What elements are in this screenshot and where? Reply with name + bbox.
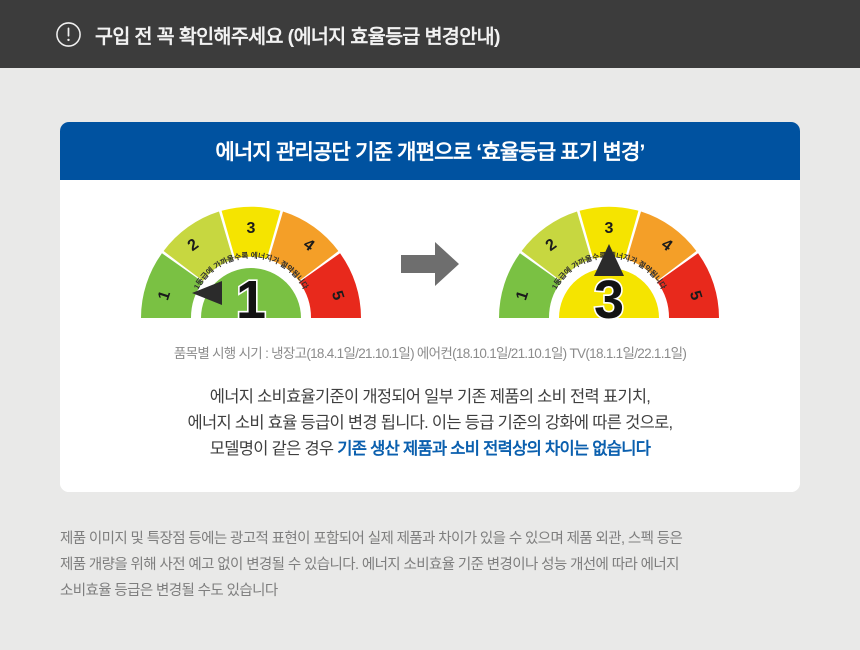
exclamation-circle-icon xyxy=(55,21,82,48)
disclaimer-line-2: 제품 개량을 위해 사전 예고 없이 변경될 수 있습니다. 에너지 소비효율 … xyxy=(60,552,800,578)
before-grade-gauge: 1 2 3 4 5 1등급에 가까울수록 에너지가 절약됩니다 1 xyxy=(133,202,369,326)
card-header: 에너지 관리공단 기준 개편으로 ‘효율등급 표기 변경’ xyxy=(60,122,800,180)
gauge-segment-label-3: 3 xyxy=(605,220,614,237)
implementation-schedule-caption: 품목별 시행 시기 : 냉장고(18.4.1일/21.10.1일) 에어컨(18… xyxy=(60,342,800,362)
description-line-3-highlight: 기존 생산 제품과 소비 전력상의 차이는 없습니다 xyxy=(337,440,650,458)
notice-header-bar: 구입 전 꼭 확인해주세요 (에너지 효율등급 변경안내) xyxy=(0,0,860,68)
gauge-segment-label-3: 3 xyxy=(247,220,256,237)
description-line-1: 에너지 소비효율기준이 개정되어 일부 기존 제품의 소비 전력 표기치, xyxy=(60,384,800,410)
grade-change-description: 에너지 소비효율기준이 개정되어 일부 기존 제품의 소비 전력 표기치, 에너… xyxy=(60,384,800,462)
description-line-3: 모델명이 같은 경우 기존 생산 제품과 소비 전력상의 차이는 없습니다 xyxy=(60,436,800,462)
description-line-2: 에너지 소비 효율 등급이 변경 됩니다. 이는 등급 기준의 강화에 따른 것… xyxy=(60,410,800,436)
disclaimer-line-3: 소비효율 등급은 변경될 수도 있습니다 xyxy=(60,578,800,604)
after-grade-gauge: 1 2 3 4 5 1등급에 가까울수록 에너지가 절약됩니다 3 xyxy=(491,202,727,326)
card-header-title: 에너지 관리공단 기준 개편으로 ‘효율등급 표기 변경’ xyxy=(215,136,644,166)
after-grade-number: 3 xyxy=(594,270,624,326)
energy-grade-card: 에너지 관리공단 기준 개편으로 ‘효율등급 표기 변경’ xyxy=(60,122,800,492)
legal-disclaimer: 제품 이미지 및 특장점 등에는 광고적 표현이 포함되어 실제 제품과 차이가… xyxy=(60,526,800,604)
notice-header-title: 구입 전 꼭 확인해주세요 (에너지 효율등급 변경안내) xyxy=(95,20,500,49)
before-grade-number: 1 xyxy=(236,270,266,326)
disclaimer-line-1: 제품 이미지 및 특장점 등에는 광고적 표현이 포함되어 실제 제품과 차이가… xyxy=(60,526,800,552)
right-arrow-icon xyxy=(399,239,461,289)
card-body: 1 2 3 4 5 1등급에 가까울수록 에너지가 절약됩니다 1 xyxy=(60,180,800,492)
gauge-comparison-row: 1 2 3 4 5 1등급에 가까울수록 에너지가 절약됩니다 1 xyxy=(60,202,800,326)
description-line-3-normal: 모델명이 같은 경우 xyxy=(210,440,338,458)
